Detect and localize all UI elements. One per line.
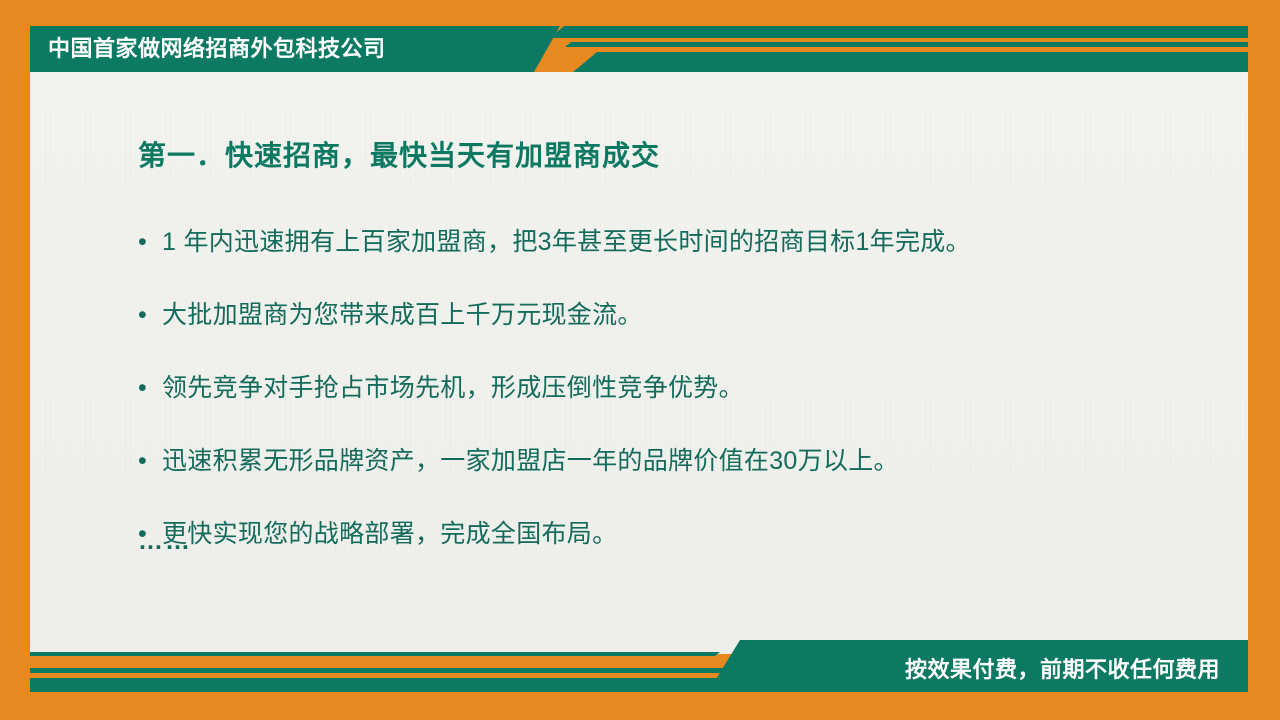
footer-banner: 按效果付费，前期不收任何费用 bbox=[30, 640, 1248, 692]
list-item-label: 大批加盟商为您带来成百上千万元现金流。 bbox=[162, 300, 1218, 330]
list-item-label: 更快实现您的战略部署，完成全国布局。 bbox=[162, 519, 1218, 549]
footer-stripe-bottom bbox=[30, 678, 745, 692]
list-item-label: 领先竞争对手抢占市场先机，形成压倒性竞争优势。 bbox=[162, 373, 1218, 403]
slide-canvas: 第一．快速招商，最快当天有加盟商成交 • 1 年内迅速拥有上百家加盟商，把3年甚… bbox=[0, 0, 1280, 720]
bullet-list: • 1 年内迅速拥有上百家加盟商，把3年甚至更长时间的招商目标1年完成。 • 大… bbox=[138, 227, 1218, 592]
header-stripe-middle bbox=[565, 42, 1248, 47]
list-item: • 大批加盟商为您带来成百上千万元现金流。 bbox=[138, 300, 1218, 330]
list-item-label: 迅速积累无形品牌资产，一家加盟店一年的品牌价值在30万以上。 bbox=[162, 446, 1218, 476]
header-title: 中国首家做网络招商外包科技公司 bbox=[48, 35, 386, 63]
header-stripe-top bbox=[550, 26, 1248, 38]
slide-content: 第一．快速招商，最快当天有加盟商成交 • 1 年内迅速拥有上百家加盟商，把3年甚… bbox=[30, 72, 1248, 654]
bullet-marker-icon: • bbox=[138, 300, 162, 330]
footer-tagline: 按效果付费，前期不收任何费用 bbox=[905, 652, 1220, 684]
list-item: • 迅速积累无形品牌资产，一家加盟店一年的品牌价值在30万以上。 bbox=[138, 446, 1218, 476]
footer-stripe-top bbox=[30, 652, 720, 656]
bullet-marker-icon: • bbox=[138, 373, 162, 403]
footer-stripe-middle bbox=[30, 668, 730, 673]
page-title: 第一．快速招商，最快当天有加盟商成交 bbox=[138, 134, 660, 174]
list-item-label: 1 年内迅速拥有上百家加盟商，把3年甚至更长时间的招商目标1年完成。 bbox=[162, 227, 1218, 257]
ellipsis-text: …… bbox=[138, 527, 192, 556]
list-item: • 1 年内迅速拥有上百家加盟商，把3年甚至更长时间的招商目标1年完成。 bbox=[138, 227, 1218, 257]
list-item: • 更快实现您的战略部署，完成全国布局。 bbox=[138, 519, 1218, 549]
list-item: • 领先竞争对手抢占市场先机，形成压倒性竞争优势。 bbox=[138, 373, 1218, 403]
slide-page-surface: 第一．快速招商，最快当天有加盟商成交 • 1 年内迅速拥有上百家加盟商，把3年甚… bbox=[30, 72, 1248, 654]
bullet-marker-icon: • bbox=[138, 227, 162, 257]
header-stripe-bottom bbox=[573, 52, 1248, 72]
header-banner: 中国首家做网络招商外包科技公司 bbox=[30, 26, 1248, 72]
bullet-marker-icon: • bbox=[138, 446, 162, 476]
